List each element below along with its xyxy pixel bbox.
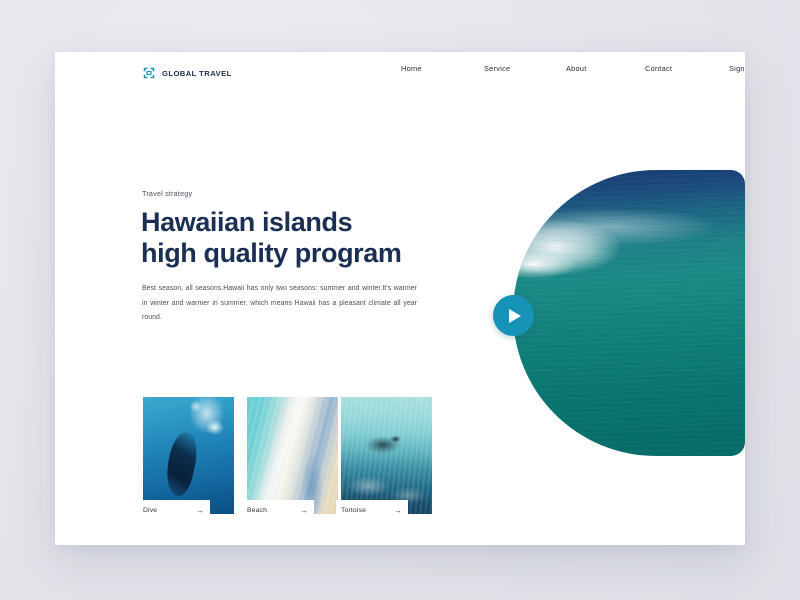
nav-item-contact[interactable]: Contact: [645, 64, 672, 73]
eyebrow-label: Travel strategy: [142, 189, 192, 198]
brand-name: GLOBAL TRAVEL: [162, 69, 232, 78]
hero-image: [513, 170, 745, 456]
thumbnail-label-beach[interactable]: Beach →: [242, 500, 314, 521]
nav-item-home[interactable]: Home: [401, 64, 422, 73]
headline-line-2: high quality program: [141, 238, 471, 269]
thumbnail-row: Dive → Beach → Tortoise →: [143, 397, 453, 522]
thumbnail-title: Dive: [143, 507, 157, 514]
viewport: GLOBAL TRAVEL Home Service About Contact…: [0, 0, 800, 600]
thumbnail-label-tortoise[interactable]: Tortoise →: [336, 500, 408, 521]
thumbnail-photo-dive: [143, 397, 234, 514]
thumbnail-label-dive[interactable]: Dive →: [138, 500, 210, 521]
play-icon: [509, 309, 521, 323]
nav-item-about[interactable]: About: [566, 64, 587, 73]
thumbnail-card-tortoise[interactable]: Tortoise →: [341, 397, 432, 514]
hero-photo-ocean: [513, 170, 745, 456]
hero-paragraph: Best season, all seasons.Hawaii has only…: [142, 282, 417, 326]
thumbnail-photo-tortoise: [341, 397, 432, 514]
site-header: GLOBAL TRAVEL Home Service About Contact…: [55, 52, 745, 96]
arrow-right-icon: →: [394, 507, 402, 515]
nav-item-service[interactable]: Service: [484, 64, 510, 73]
thumbnail-card-beach[interactable]: Beach →: [247, 397, 338, 514]
thumbnail-photo-beach: [247, 397, 338, 514]
page-card: GLOBAL TRAVEL Home Service About Contact…: [55, 52, 745, 545]
play-video-button[interactable]: Play video: [493, 295, 534, 336]
thumbnail-title: Tortoise: [341, 507, 366, 514]
thumbnail-card-dive[interactable]: Dive →: [143, 397, 234, 514]
thumbnail-title: Beach: [247, 507, 267, 514]
arrow-right-icon: →: [196, 507, 204, 515]
brand-logo[interactable]: GLOBAL TRAVEL: [142, 66, 232, 80]
page-title: Hawaiian islands high quality program: [141, 207, 471, 269]
refresh-square-logo-icon: [142, 66, 156, 80]
headline-line-1: Hawaiian islands: [141, 207, 471, 238]
nav-item-sign-in[interactable]: Sign in: [729, 64, 745, 73]
arrow-right-icon: →: [300, 507, 308, 515]
